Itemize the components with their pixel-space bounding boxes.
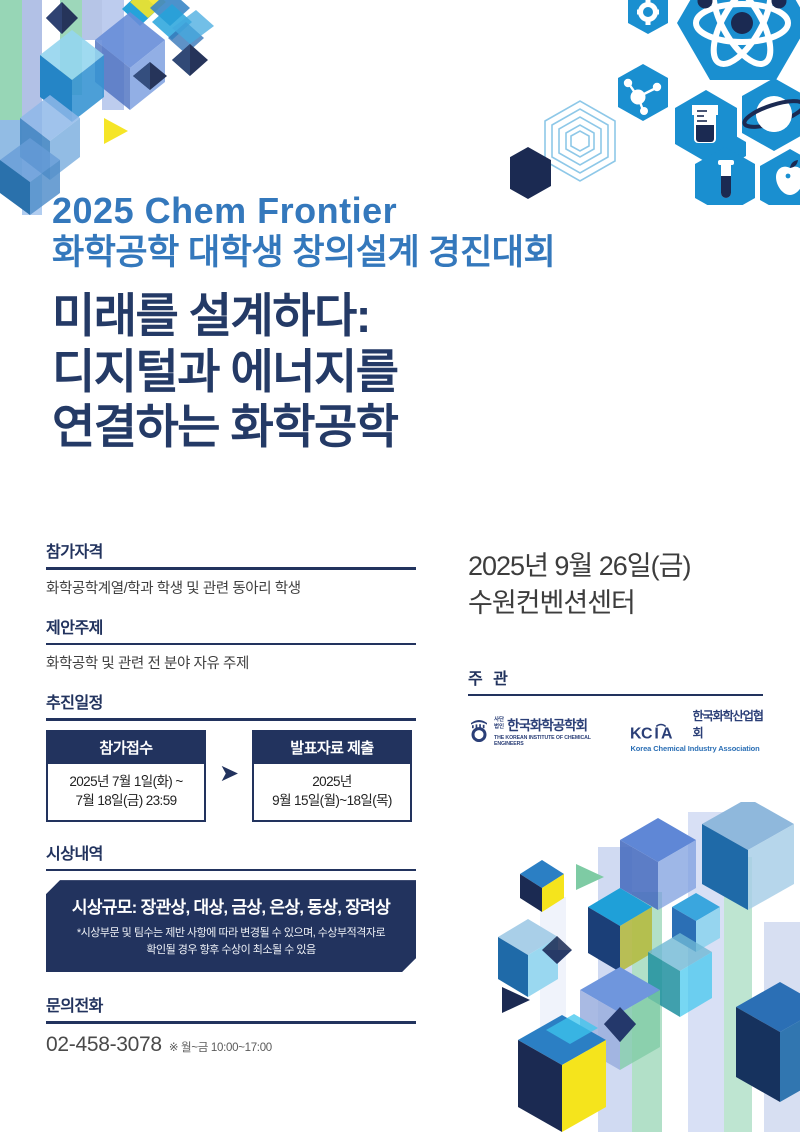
event-when-where: 2025년 9월 26일(금) 수원컨벤션센터 xyxy=(468,548,768,623)
molecule-icon xyxy=(618,64,668,121)
logo-kiche: 사단 법인 한국화학공학회 THE KOREAN INSTITUTE OF CH… xyxy=(468,714,612,747)
details-column: 참가자격 화학공학계열/학과 학생 및 관련 동아리 학생 제안주제 화학공학 … xyxy=(46,538,416,1071)
kiche-name-row: 사단 법인 한국화학공학회 xyxy=(494,714,612,734)
kiche-korean-name: 한국화학공학회 xyxy=(507,714,587,734)
section-awards: 시상내역 시상규모: 장관상, 대상, 금상, 은상, 동상, 장려상 *시상부… xyxy=(46,840,416,973)
awards-heading: 시상내역 xyxy=(46,840,416,864)
arrow-right-icon: ➤ xyxy=(206,762,252,790)
poster-canvas: 2025 Chem Frontier 화학공학 대학생 창의설계 경진대회 미래… xyxy=(0,0,800,1132)
sponsor-logos: 사단 법인 한국화학공학회 THE KOREAN INSTITUTE OF CH… xyxy=(468,707,768,753)
contact-heading: 문의전화 xyxy=(46,992,416,1016)
decoration-top-left-cubes xyxy=(0,0,290,215)
title-english: 2025 Chem Frontier xyxy=(52,190,752,232)
kcia-english-name: Korea Chemical Industry Association xyxy=(630,744,768,753)
divider xyxy=(46,718,416,721)
eligibility-heading: 참가자격 xyxy=(46,538,416,562)
svg-text:A: A xyxy=(661,726,673,742)
contact-phone-number[interactable]: 02-458-3078 xyxy=(46,1033,162,1057)
schedule-heading: 추진일정 xyxy=(46,689,416,713)
event-date: 2025년 9월 26일(금) xyxy=(468,548,768,585)
svg-text:KC: KC xyxy=(630,726,653,742)
decoration-top-right-science-icons xyxy=(510,0,800,205)
schedule-step-detail: 2025년 7월 1일(화) ~ 7월 18일(금) 23:59 xyxy=(48,764,204,820)
awards-main-text: 시상규모: 장관상, 대상, 금상, 은상, 동상, 장려상 xyxy=(62,893,400,918)
svg-text:I: I xyxy=(655,726,659,742)
kcia-text: KC I A 한국화학산업협회 Korea Chemical Industry … xyxy=(630,707,768,753)
headline-line-2: 디지털과 에너지를 xyxy=(52,344,752,399)
host-heading: 주 관 xyxy=(468,665,768,689)
schedule-flow: 참가접수 2025년 7월 1일(화) ~ 7월 18일(금) 23:59 ➤ … xyxy=(46,730,416,822)
kcia-name-row: KC I A 한국화학산업협회 xyxy=(630,707,768,742)
eligibility-body: 화학공학계열/학과 학생 및 관련 동아리 학생 xyxy=(46,579,416,600)
beaker-icon xyxy=(675,90,737,162)
logo-kcia: KC I A 한국화학산업협회 Korea Chemical Industry … xyxy=(630,707,768,753)
schedule-step-detail: 2025년 9월 15일(월)~18일(목) xyxy=(254,764,410,820)
kiche-prefix: 사단 법인 xyxy=(494,717,504,730)
hexagon-rings-icon xyxy=(545,101,615,181)
schedule-detail-line-2: 7월 18일(금) 23:59 xyxy=(51,791,201,811)
contact-hours: ※ 월~금 10:00~17:00 xyxy=(169,1039,272,1055)
kcia-korean-name: 한국화학산업협회 xyxy=(693,707,768,742)
divider xyxy=(46,1021,416,1024)
awards-note-line-2: 확인될 경우 향후 수상이 최소될 수 있음 xyxy=(146,944,315,956)
section-topic: 제안주제 화학공학 및 관련 전 분야 자유 주제 xyxy=(46,614,416,676)
kiche-english-name: THE KOREAN INSTITUTE OF CHEMICAL ENGINEE… xyxy=(494,735,612,747)
kiche-prefix-line-1: 사단 xyxy=(494,717,504,723)
divider xyxy=(46,643,416,646)
apple-icon xyxy=(760,149,800,205)
section-contact: 문의전화 02-458-3078 ※ 월~금 10:00~17:00 xyxy=(46,992,416,1057)
kcia-acronym-icon: KC I A xyxy=(630,723,688,742)
contact-phone-line: 02-458-3078 ※ 월~금 10:00~17:00 xyxy=(46,1033,416,1057)
event-venue: 수원컨벤션센터 xyxy=(468,585,768,622)
schedule-step-submission: 발표자료 제출 2025년 9월 15일(월)~18일(목) xyxy=(252,730,412,822)
kiche-prefix-line-2: 법인 xyxy=(494,724,504,730)
decoration-bottom-right-cubes xyxy=(480,802,800,1132)
page-title: 미래를 설계하다: 디지털과 에너지를 연결하는 화학공학 xyxy=(52,288,752,454)
divider xyxy=(46,567,416,570)
awards-banner: 시상규모: 장관상, 대상, 금상, 은상, 동상, 장려상 *시상부문 및 팀… xyxy=(46,880,416,972)
atom-icon xyxy=(510,0,800,80)
topic-heading: 제안주제 xyxy=(46,614,416,638)
kiche-text: 사단 법인 한국화학공학회 THE KOREAN INSTITUTE OF CH… xyxy=(494,714,612,747)
microscope-icon xyxy=(737,0,791,60)
headline-line-1: 미래를 설계하다: xyxy=(52,288,752,343)
divider xyxy=(46,869,416,872)
gear-icon xyxy=(628,0,668,34)
headline-line-3: 연결하는 화학공학 xyxy=(52,399,752,454)
kiche-emblem-icon xyxy=(468,718,490,742)
section-schedule: 추진일정 참가접수 2025년 7월 1일(화) ~ 7월 18일(금) 23:… xyxy=(46,689,416,822)
schedule-step-registration: 참가접수 2025년 7월 1일(화) ~ 7월 18일(금) 23:59 xyxy=(46,730,206,822)
section-host: 주 관 사단 xyxy=(468,665,768,754)
schedule-step-label: 참가접수 xyxy=(48,732,204,764)
poster-title-block: 2025 Chem Frontier 화학공학 대학생 창의설계 경진대회 미래… xyxy=(52,190,752,455)
schedule-detail-line-1: 2025년 7월 1일(화) ~ xyxy=(51,772,201,792)
title-korean: 화학공학 대학생 창의설계 경진대회 xyxy=(52,232,752,274)
topic-body: 화학공학 및 관련 전 분야 자유 주제 xyxy=(46,654,416,675)
awards-note-line-1: *시상부문 및 팀수는 제반 사항에 따라 변경될 수 있으며, 수상부적격자로 xyxy=(77,927,385,939)
divider xyxy=(468,694,763,697)
section-eligibility: 참가자격 화학공학계열/학과 학생 및 관련 동아리 학생 xyxy=(46,538,416,600)
awards-note: *시상부문 및 팀수는 제반 사항에 따라 변경될 수 있으며, 수상부적격자로… xyxy=(62,925,400,958)
event-column: 2025년 9월 26일(금) 수원컨벤션센터 주 관 xyxy=(468,548,768,753)
schedule-detail-line-2: 9월 15일(월)~18일(목) xyxy=(257,791,407,811)
schedule-step-label: 발표자료 제출 xyxy=(254,732,410,764)
schedule-detail-line-1: 2025년 xyxy=(257,772,407,792)
planet-icon xyxy=(742,78,800,151)
